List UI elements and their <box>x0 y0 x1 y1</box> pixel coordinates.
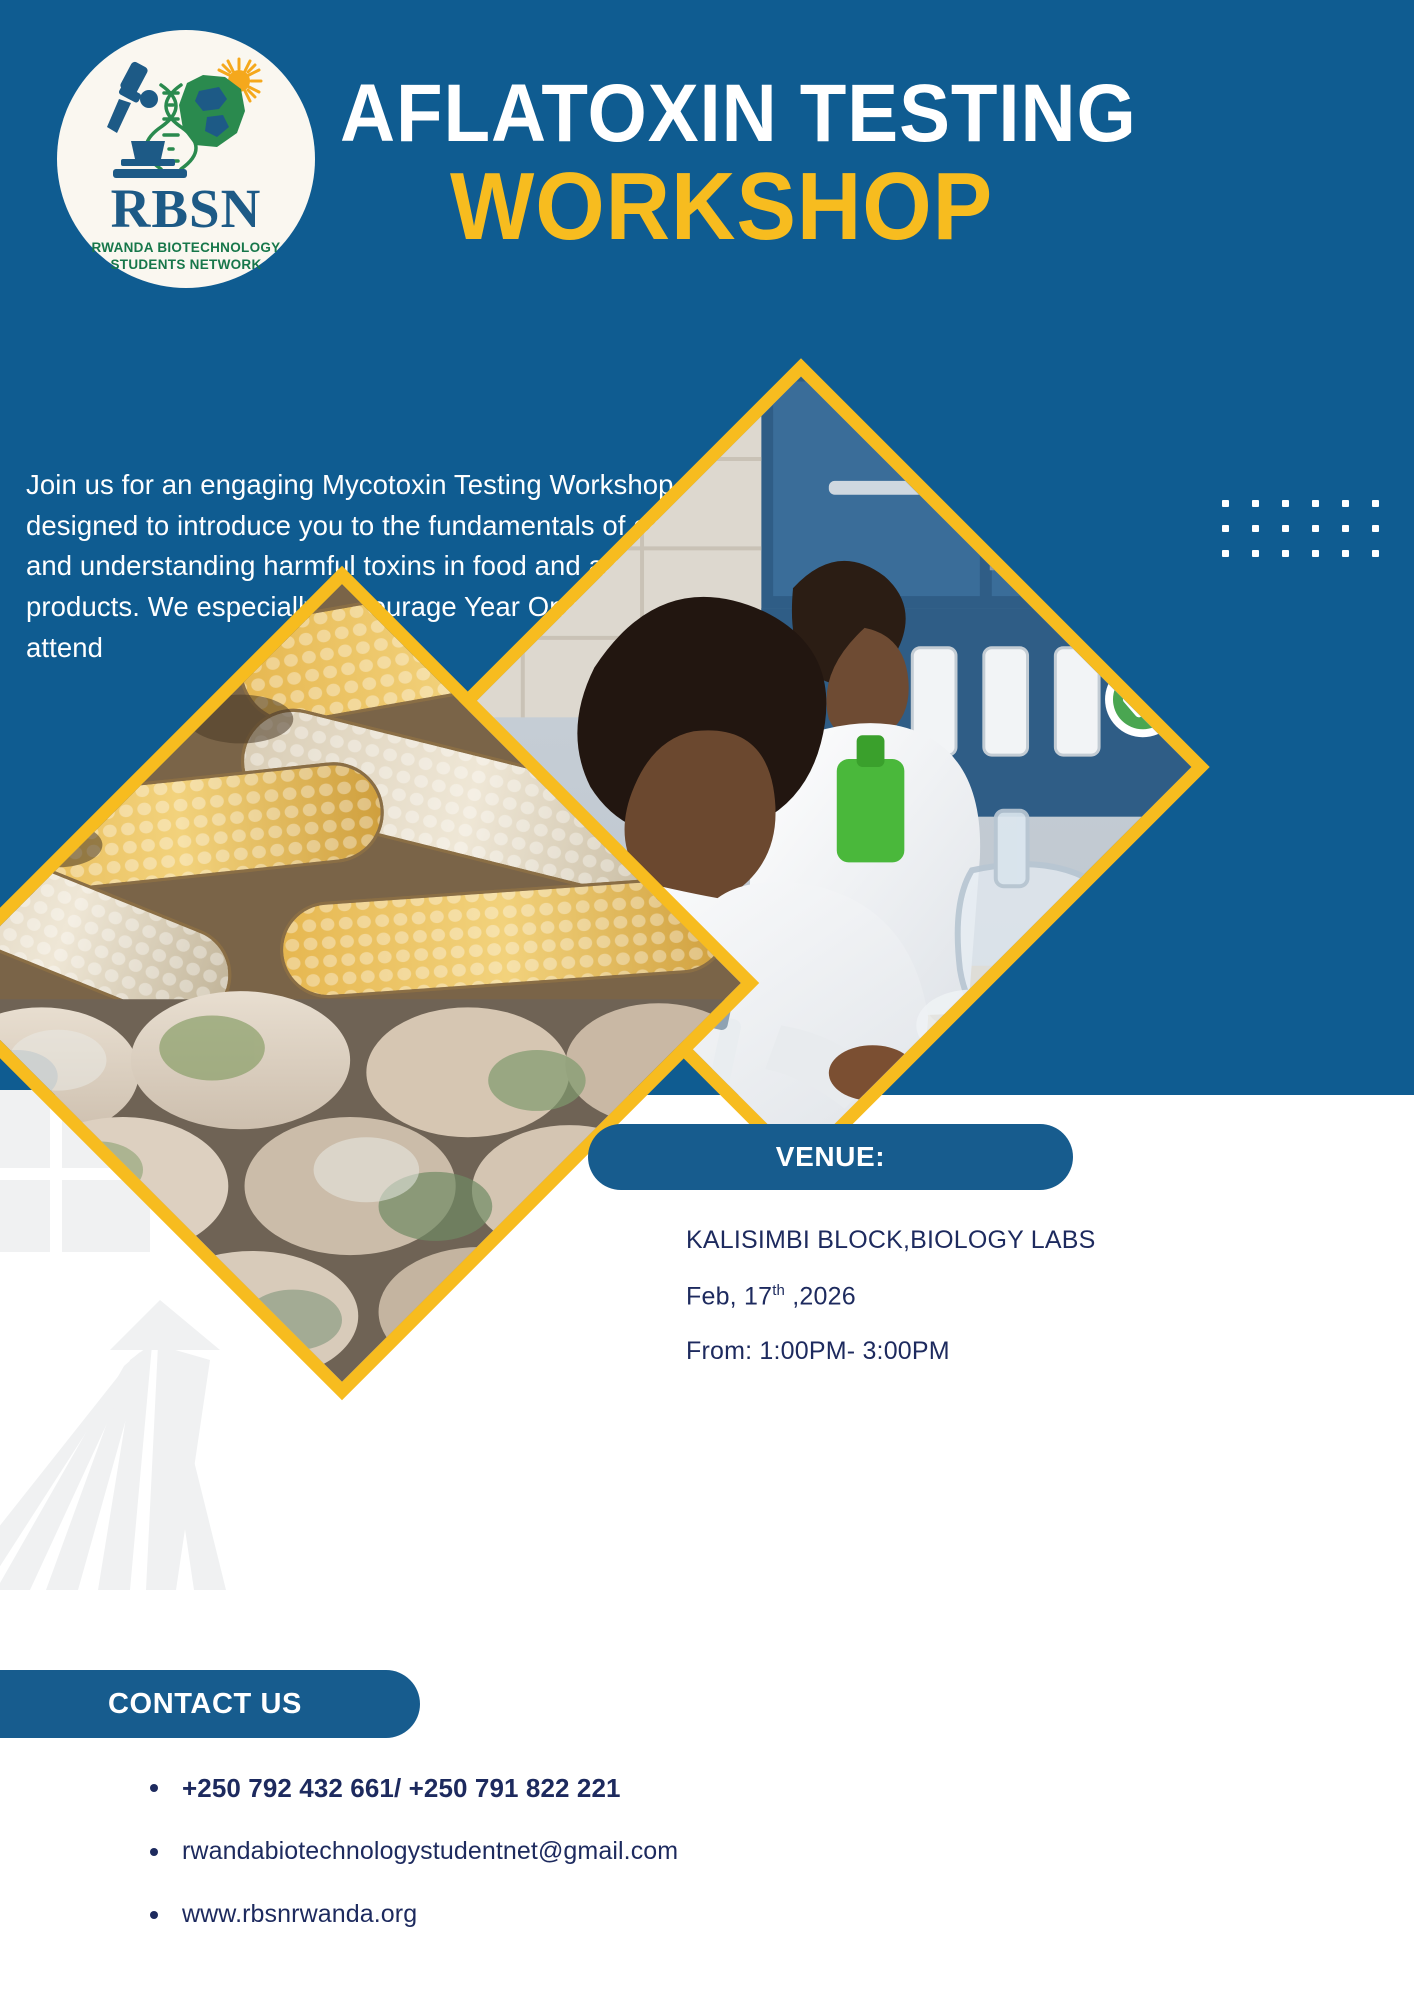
dot <box>1342 550 1349 557</box>
dot-grid-decoration <box>1222 500 1402 575</box>
dot <box>1312 525 1319 532</box>
dot <box>1342 525 1349 532</box>
dot <box>1252 550 1259 557</box>
poster-title: AFLATOXIN TESTING WORKSHOP <box>340 76 1370 255</box>
venue-heading-pill: VENUE: <box>588 1124 1073 1190</box>
venue-location: KALISIMBI BLOCK,BIOLOGY LABS <box>686 1228 1386 1253</box>
venue-date-suffix: th <box>772 1282 785 1299</box>
dot <box>1282 500 1289 507</box>
mouldy-maize-photo <box>47 688 637 1278</box>
dot <box>1312 500 1319 507</box>
dot <box>1222 525 1229 532</box>
venue-date-year: ,2026 <box>785 1282 856 1310</box>
contact-list: +250 792 432 661/ +250 791 822 221 rwand… <box>120 1775 1150 1965</box>
venue-date: Feb, 17th ,2026 <box>686 1283 1386 1309</box>
logo-subtitle-line2: STUDENTS NETWORK <box>91 257 280 274</box>
contact-heading-label: CONTACT US <box>78 1688 302 1721</box>
contact-website[interactable]: www.rbsnrwanda.org <box>150 1902 1150 1927</box>
venue-details: KALISIMBI BLOCK,BIOLOGY LABS Feb, 17th ,… <box>686 1228 1386 1394</box>
poster-canvas: RBSN RWANDA BIOTECHNOLOGY STUDENTS NETWO… <box>0 0 1414 2000</box>
dot <box>1282 550 1289 557</box>
microscope-dna-rwanda-map-sun-icon <box>91 55 281 187</box>
photo-inner <box>0 577 748 1389</box>
venue-heading-label: VENUE: <box>776 1141 885 1173</box>
logo-subtitle-line1: RWANDA BIOTECHNOLOGY <box>91 240 280 257</box>
venue-time: From: 1:00PM- 3:00PM <box>686 1339 1386 1364</box>
dot <box>1372 500 1379 507</box>
dot <box>1282 525 1289 532</box>
logo-acronym: RBSN <box>111 181 262 236</box>
dot <box>1372 550 1379 557</box>
contact-email[interactable]: rwandabiotechnologystudentnet@gmail.com <box>150 1839 1150 1864</box>
dot <box>1222 550 1229 557</box>
title-line-2: WORKSHOP <box>450 159 1306 255</box>
title-line-1: AFLATOXIN TESTING <box>340 76 1298 151</box>
maize-groundnuts-illustration <box>0 577 748 1389</box>
dot <box>1222 500 1229 507</box>
dot <box>1342 500 1349 507</box>
contact-heading-pill: CONTACT US <box>0 1670 420 1738</box>
dot <box>1372 525 1379 532</box>
dot <box>1312 550 1319 557</box>
dot <box>1252 500 1259 507</box>
rwanda-map-icon <box>179 75 245 147</box>
venue-date-prefix: Feb, 17 <box>686 1282 772 1310</box>
rbsn-logo: RBSN RWANDA BIOTECHNOLOGY STUDENTS NETWO… <box>57 30 315 288</box>
logo-subtitle: RWANDA BIOTECHNOLOGY STUDENTS NETWORK <box>91 240 280 274</box>
contact-phone[interactable]: +250 792 432 661/ +250 791 822 221 <box>150 1775 1150 1801</box>
dot <box>1252 525 1259 532</box>
